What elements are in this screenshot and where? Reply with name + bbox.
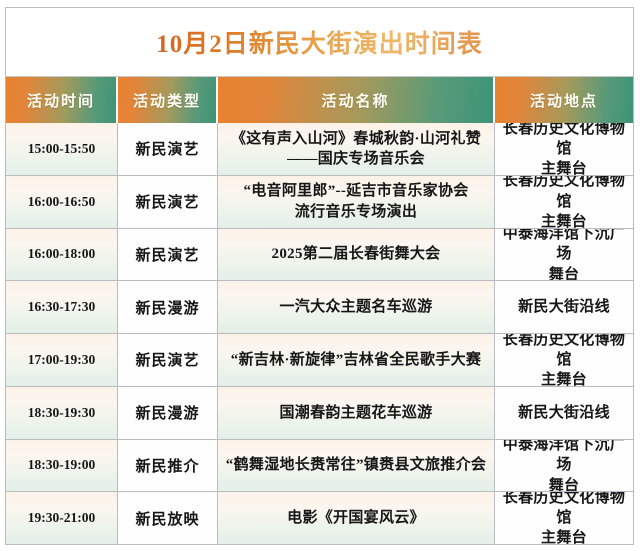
schedule-poster: 10月2日新民大街演出时间表 活动时间 活动类型 活动名称 活动地点 15:00… [0,0,640,551]
table-row: 19:30-21:00 新民放映 电影《开国宴风云》 长春历史文化博物馆 主舞台 [6,492,633,544]
cell-type: 新民推介 [118,440,218,492]
cell-name: 国潮春韵主题花车巡游 [218,387,495,439]
cell-name-line-2: ——国庆专场音乐会 [231,149,481,169]
table-body: 15:00-15:50 新民演艺 《这有声入山河》春城秋韵·山河礼赞 ——国庆专… [6,123,633,544]
cell-place-line-1: 长春历史文化博物馆 [498,334,630,370]
cell-place-line-2: 主舞台 [498,212,630,228]
cell-name: 电影《开国宴风云》 [218,492,495,544]
cell-name-line-1: 一汽大众主题名车巡游 [279,297,432,317]
cell-time: 18:30-19:30 [6,387,118,439]
table-row: 16:00-18:00 新民演艺 2025第二届长春街舞大会 中泰海洋馆下沉广场… [6,229,633,282]
cell-place-line-1: 长春历史文化博物馆 [498,492,630,528]
table-row: 18:30-19:00 新民推介 “鹤舞湿地长赉常往”镇赉县文旅推介会 中泰海洋… [6,440,633,493]
cell-place: 新民大街沿线 [495,281,633,333]
column-header-type: 活动类型 [118,77,218,123]
cell-place: 中泰海洋馆下沉广场 舞台 [495,229,633,281]
cell-name: “电音阿里郎”--延吉市音乐家协会 流行音乐专场演出 [218,176,495,228]
cell-place-line-2: 主舞台 [498,159,630,175]
table-row: 18:30-19:30 新民漫游 国潮春韵主题花车巡游 新民大街沿线 [6,387,633,440]
page-title: 10月2日新民大街演出时间表 [156,24,483,60]
cell-time: 16:00-16:50 [6,176,118,228]
cell-type: 新民演艺 [118,176,218,228]
schedule-table: 10月2日新民大街演出时间表 活动时间 活动类型 活动名称 活动地点 15:00… [5,7,634,545]
cell-type: 新民漫游 [118,281,218,333]
cell-time: 16:00-18:00 [6,229,118,281]
cell-name-line-1: 国潮春韵主题花车巡游 [279,403,432,423]
cell-type: 新民演艺 [118,334,218,386]
cell-place-line-1: 新民大街沿线 [518,403,610,423]
cell-name-line-1: 电影《开国宴风云》 [287,508,425,528]
cell-name-line-1: 《这有声入山河》春城秋韵·山河礼赞 [231,129,481,149]
cell-place: 长春历史文化博物馆 主舞台 [495,176,633,228]
cell-place-line-2: 舞台 [498,265,630,281]
cell-place-line-2: 主舞台 [498,370,630,386]
cell-time: 18:30-19:00 [6,440,118,492]
cell-name: 《这有声入山河》春城秋韵·山河礼赞 ——国庆专场音乐会 [218,123,495,175]
cell-name-line-1: “新吉林·新旋律”吉林省全民歌手大赛 [231,350,481,370]
cell-place: 中泰海洋馆下沉广场 舞台 [495,440,633,492]
cell-place-line-1: 新民大街沿线 [518,297,610,317]
cell-type: 新民演艺 [118,229,218,281]
cell-time: 19:30-21:00 [6,492,118,544]
cell-place-line-1: 中泰海洋馆下沉广场 [498,440,630,476]
cell-place-line-1: 长春历史文化博物馆 [498,123,630,159]
column-header-place: 活动地点 [495,77,633,123]
cell-place: 长春历史文化博物馆 主舞台 [495,334,633,386]
cell-time: 16:30-17:30 [6,281,118,333]
cell-type: 新民演艺 [118,123,218,175]
cell-time: 15:00-15:50 [6,123,118,175]
cell-type: 新民漫游 [118,387,218,439]
column-header-name: 活动名称 [218,77,495,123]
cell-type: 新民放映 [118,492,218,544]
cell-place-line-1: 中泰海洋馆下沉广场 [498,229,630,265]
cell-place: 新民大街沿线 [495,387,633,439]
cell-name-line-1: “鹤舞湿地长赉常往”镇赉县文旅推介会 [226,455,486,475]
cell-name: “新吉林·新旋律”吉林省全民歌手大赛 [218,334,495,386]
table-row: 15:00-15:50 新民演艺 《这有声入山河》春城秋韵·山河礼赞 ——国庆专… [6,123,633,176]
cell-place-line-1: 长春历史文化博物馆 [498,176,630,212]
table-row: 16:00-16:50 新民演艺 “电音阿里郎”--延吉市音乐家协会 流行音乐专… [6,176,633,229]
cell-place-line-2: 主舞台 [498,528,630,544]
title-bar: 10月2日新民大街演出时间表 [6,8,633,77]
cell-name: “鹤舞湿地长赉常往”镇赉县文旅推介会 [218,440,495,492]
cell-name: 一汽大众主题名车巡游 [218,281,495,333]
column-header-time: 活动时间 [6,77,118,123]
cell-place: 长春历史文化博物馆 主舞台 [495,123,633,175]
table-header-row: 活动时间 活动类型 活动名称 活动地点 [6,77,633,123]
cell-name: 2025第二届长春街舞大会 [218,229,495,281]
cell-name-line-1: “电音阿里郎”--延吉市音乐家协会 [243,181,468,201]
cell-name-line-2: 流行音乐专场演出 [243,202,468,222]
cell-place: 长春历史文化博物馆 主舞台 [495,492,633,544]
cell-place-line-2: 舞台 [498,476,630,492]
cell-name-line-1: 2025第二届长春街舞大会 [272,244,441,264]
table-row: 16:30-17:30 新民漫游 一汽大众主题名车巡游 新民大街沿线 [6,281,633,334]
cell-time: 17:00-19:30 [6,334,118,386]
table-row: 17:00-19:30 新民演艺 “新吉林·新旋律”吉林省全民歌手大赛 长春历史… [6,334,633,387]
